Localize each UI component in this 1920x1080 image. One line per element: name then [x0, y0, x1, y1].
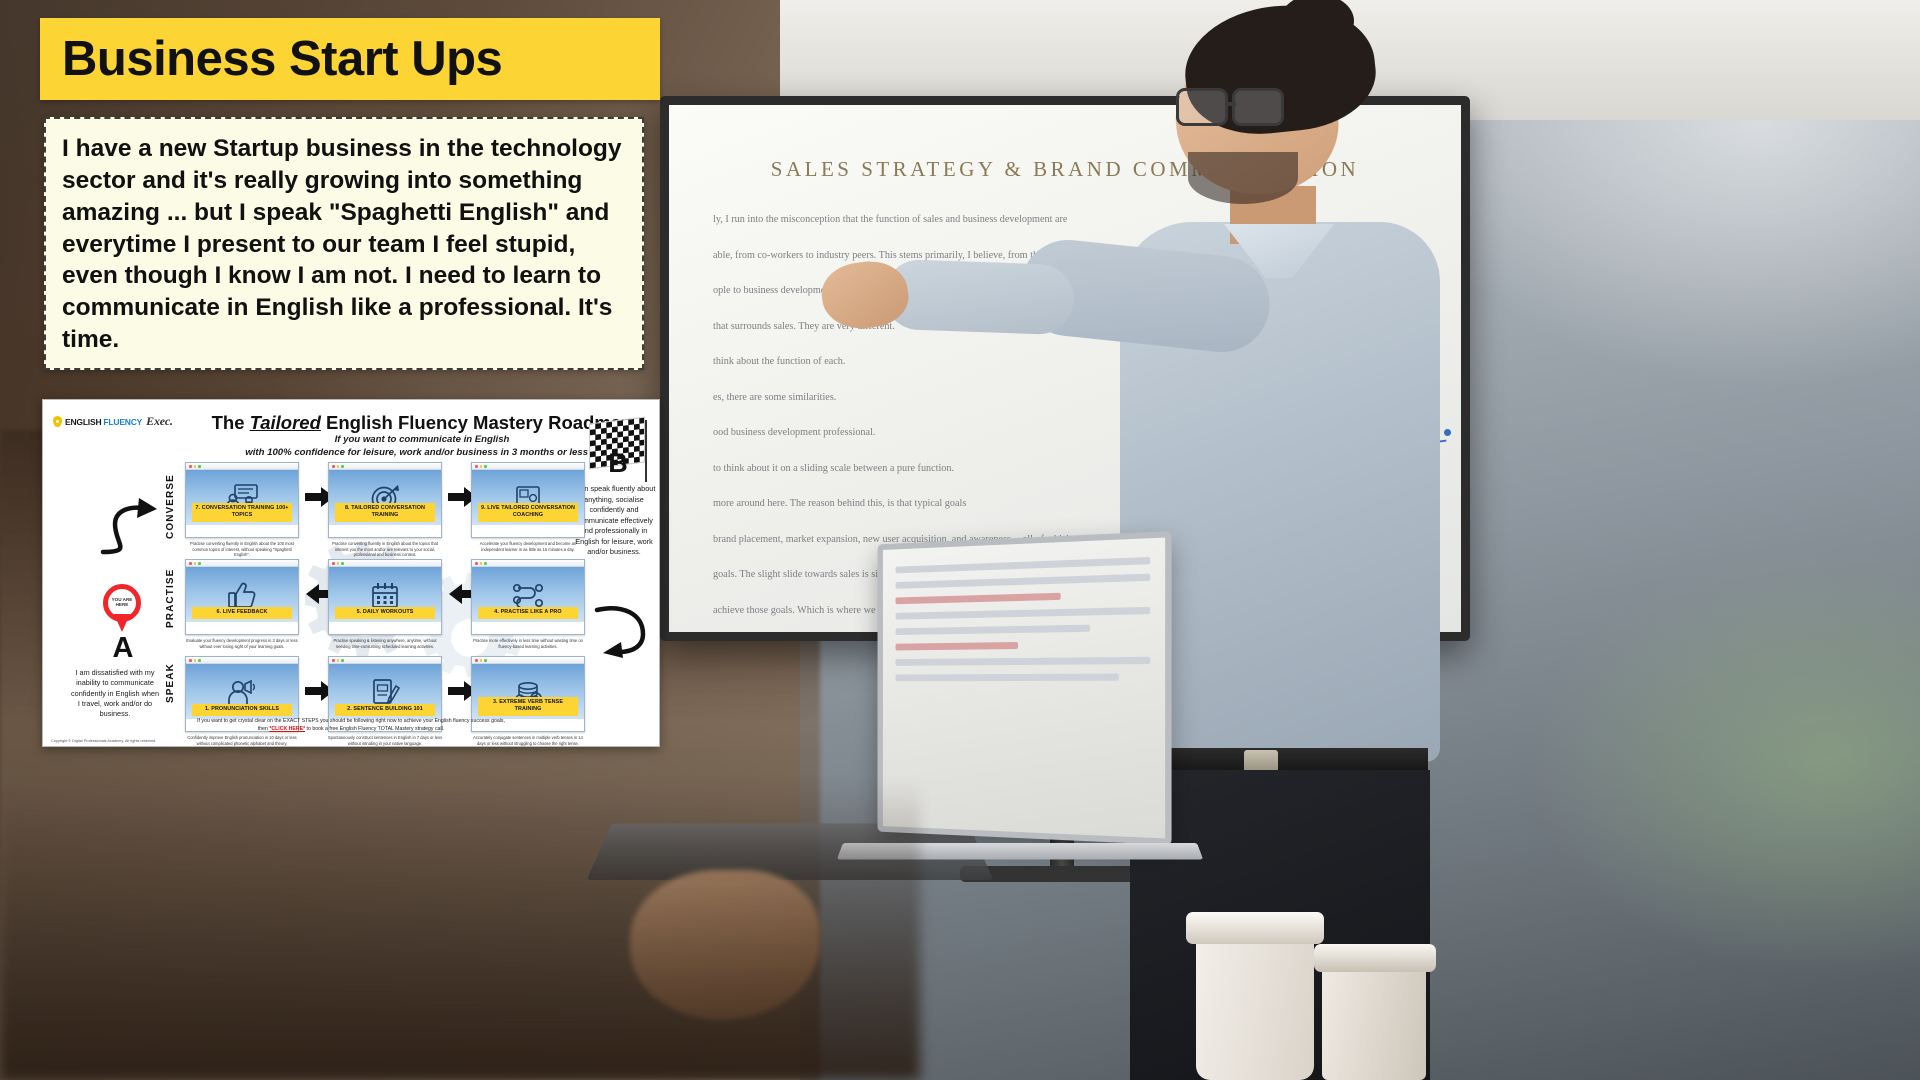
end-point-letter: B	[598, 450, 638, 477]
slide-title-banner: Business Start Ups	[40, 18, 660, 100]
roadmap-card[interactable]: 8. TAILORED CONVERSATION TRAINING Practi…	[328, 462, 442, 538]
roadmap-card[interactable]: 4. PRACTISE LIKE A PRO Practise more eff…	[471, 559, 585, 635]
roadmap-card-grid: 7. CONVERSATION TRAINING 100+ TOPICS Pra…	[185, 462, 585, 744]
slide-canvas: SALES STRATEGY & BRAND COMMUNICATION ly,…	[0, 0, 1920, 1080]
roadmap-subtitle: If you want to communicate in English wi…	[193, 434, 651, 459]
start-point-letter: A	[103, 634, 143, 663]
brand-logo: ENGLISH FLUENCY Exec.	[53, 414, 173, 429]
laptop-screen	[878, 531, 1172, 845]
roadmap-card[interactable]: 5. DAILY WORKOUTS Practise speaking & li…	[328, 559, 442, 635]
roadmap-copyright: Copyright © Digital Professionals Academ…	[51, 739, 156, 743]
foreground-vignette	[0, 780, 920, 1080]
writing-icon	[370, 678, 400, 706]
calendar-icon	[370, 581, 400, 609]
coffee-cup	[1196, 930, 1314, 1080]
thumbs-up-icon	[227, 581, 257, 609]
roadmap-card[interactable]: 9. LIVE TAILORED CONVERSATION COACHING A…	[471, 462, 585, 538]
logo-word-exec: Exec.	[146, 414, 173, 429]
roadmap-header: ENGLISH FLUENCY Exec. The Tailored Engli…	[43, 400, 659, 456]
coffee-cup-lid	[1186, 912, 1324, 944]
roadmap-card-label: 8. TAILORED CONVERSATION TRAINING	[335, 503, 435, 522]
phase-label-practise: PRACTISE	[165, 556, 176, 640]
logo-word-english: ENGLISH	[65, 417, 101, 427]
location-pin-icon	[53, 416, 62, 427]
roadmap-card-label: 5. DAILY WORKOUTS	[335, 607, 435, 619]
roadmap-card[interactable]: 6. LIVE FEEDBACK Evaluate your fluency d…	[185, 559, 299, 635]
roadmap-card-caption: Practise more effectively in less time w…	[470, 638, 586, 649]
flag-pole	[645, 420, 647, 482]
roadmap-card-caption: Accurately conjugate sentences in multip…	[470, 735, 586, 746]
roadmap-footer-line2: then *CLICK HERE* to book a free English…	[43, 726, 659, 734]
phase-label-speak: SPEAK	[165, 646, 176, 720]
roadmap-footer-line1: If you want to get crystal clear on the …	[43, 718, 659, 726]
roadmap-card-caption: Evaluate your fluency development progre…	[184, 638, 300, 649]
roadmap-card-caption: Practise converting fluently in English …	[327, 541, 443, 558]
workflow-icon	[512, 582, 544, 608]
page-title: Business Start Ups	[62, 35, 502, 84]
cta-link[interactable]: *CLICK HERE*	[269, 726, 305, 732]
testimonial-box: I have a new Startup business in the tec…	[44, 117, 644, 370]
coffee-cup-secondary	[1322, 960, 1426, 1080]
roadmap-card-caption: Confidently improve English pronunciatio…	[184, 735, 300, 746]
roadmap-card-label: 1. PRONUNCIATION SKILLS	[192, 704, 292, 716]
roadmap-title: The Tailored English Fluency Mastery Roa…	[193, 412, 651, 434]
roadmap-infographic: ENGLISH FLUENCY Exec. The Tailored Engli…	[42, 399, 660, 747]
curved-arrow-up-icon	[99, 496, 165, 558]
roadmap-card-label: 7. CONVERSATION TRAINING 100+ TOPICS	[192, 503, 292, 522]
roadmap-card-label: 6. LIVE FEEDBACK	[192, 607, 292, 619]
roadmap-card-caption: Spontaneously construct sentences in Eng…	[327, 735, 443, 746]
roadmap-subtitle-line1: If you want to communicate in English	[193, 434, 651, 447]
logo-word-fluency: FLUENCY	[103, 417, 142, 427]
speaker-person-icon	[226, 679, 258, 705]
start-point-description: I am dissatisfied with my inability to c…	[69, 668, 161, 720]
coffee-cup-secondary-lid	[1314, 944, 1436, 972]
roadmap-card-caption: Accelerate your fluency development and …	[470, 541, 586, 552]
you-are-here-marker: YOU ARE HERE	[103, 584, 141, 632]
roadmap-card-caption: Practise speaking & listening anywhere, …	[327, 638, 443, 649]
roadmap-footer: If you want to get crystal clear on the …	[43, 718, 659, 734]
roadmap-card-label: 4. PRACTISE LIKE A PRO	[478, 607, 578, 619]
roadmap-card-caption: Practise converting fluently in English …	[184, 541, 300, 558]
roadmap-card-label: 2. SENTENCE BUILDING 101	[335, 704, 435, 716]
pin-line-2: HERE	[116, 602, 129, 607]
phase-label-converse: CONVERSE	[165, 464, 176, 550]
roadmap-card-label: 9. LIVE TAILORED CONVERSATION COACHING	[478, 503, 578, 522]
curved-arrow-down-icon	[593, 600, 655, 658]
roadmap-card-label: 3. EXTREME VERB TENSE TRAINING	[478, 697, 578, 716]
testimonial-text: I have a new Startup business in the tec…	[62, 133, 626, 356]
roadmap-subtitle-line2: with 100% confidence for leisure, work a…	[193, 447, 651, 460]
presenter-glasses	[1176, 88, 1228, 126]
roadmap-card[interactable]: 7. CONVERSATION TRAINING 100+ TOPICS Pra…	[185, 462, 299, 538]
